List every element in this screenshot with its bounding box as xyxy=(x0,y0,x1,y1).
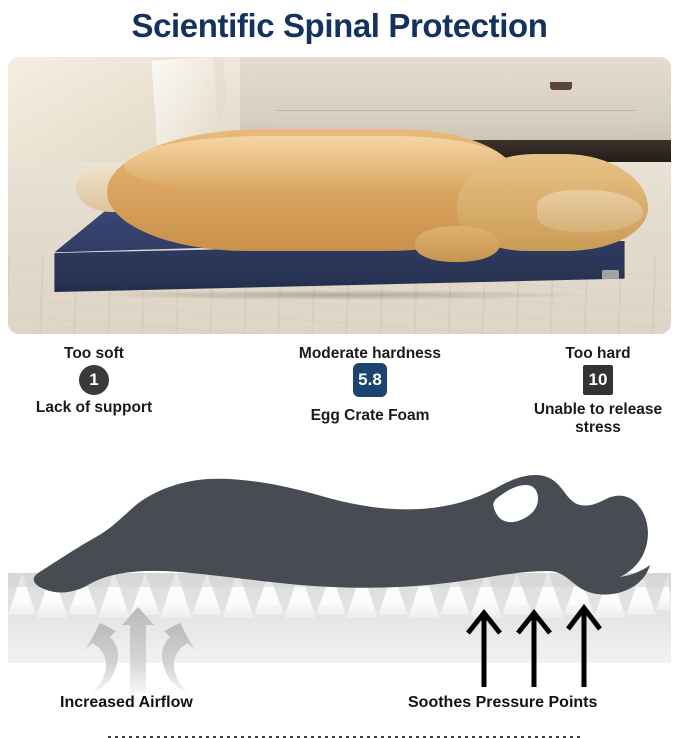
photo-bed-shadow xyxy=(89,290,591,300)
hardness-column-moderate: Moderate hardness 5.8 Egg Crate Foam xyxy=(272,345,468,425)
hardness-badge-10: 10 xyxy=(583,365,613,395)
hardness-bottom-label-lack-of-support: Lack of support xyxy=(18,399,170,417)
airflow-label: Increased Airflow xyxy=(60,694,193,712)
hardness-scale: Too soft 1 Lack of support Moderate hard… xyxy=(0,345,679,455)
hardness-top-label-too-soft: Too soft xyxy=(18,345,170,363)
photo-dog xyxy=(107,118,637,257)
hardness-column-too-soft: Too soft 1 Lack of support xyxy=(18,345,170,417)
hardness-badge-row-3: 10 xyxy=(524,363,672,397)
product-photo xyxy=(8,57,671,334)
hardness-bottom-label-egg-crate-foam: Egg Crate Foam xyxy=(272,407,468,425)
photo-bed-zipper xyxy=(602,270,619,282)
hardness-badge-row-2: 5.8 xyxy=(272,363,468,397)
hardness-badge-1: 1 xyxy=(79,365,109,395)
foam-cross-section-diagram xyxy=(0,455,679,718)
hardness-badge-5-8: 5.8 xyxy=(353,363,387,397)
photo-dog-paw xyxy=(415,226,500,262)
photo-dog-muzzle xyxy=(537,190,643,232)
pressure-points-label: Soothes Pressure Points xyxy=(408,694,597,712)
page-title-text: Scientific Spinal Protection xyxy=(131,7,547,45)
photo-sofa-leg xyxy=(550,82,572,91)
page-title: Scientific Spinal Protection xyxy=(0,0,679,52)
hardness-bottom-label-unable-to-release-stress: Unable to release stress xyxy=(524,401,672,437)
hardness-column-too-hard: Too hard 10 Unable to release stress xyxy=(524,345,672,437)
hardness-top-label-too-hard: Too hard xyxy=(524,345,672,363)
hardness-badge-row-1: 1 xyxy=(18,363,170,397)
hardness-top-label-moderate: Moderate hardness xyxy=(272,345,468,363)
